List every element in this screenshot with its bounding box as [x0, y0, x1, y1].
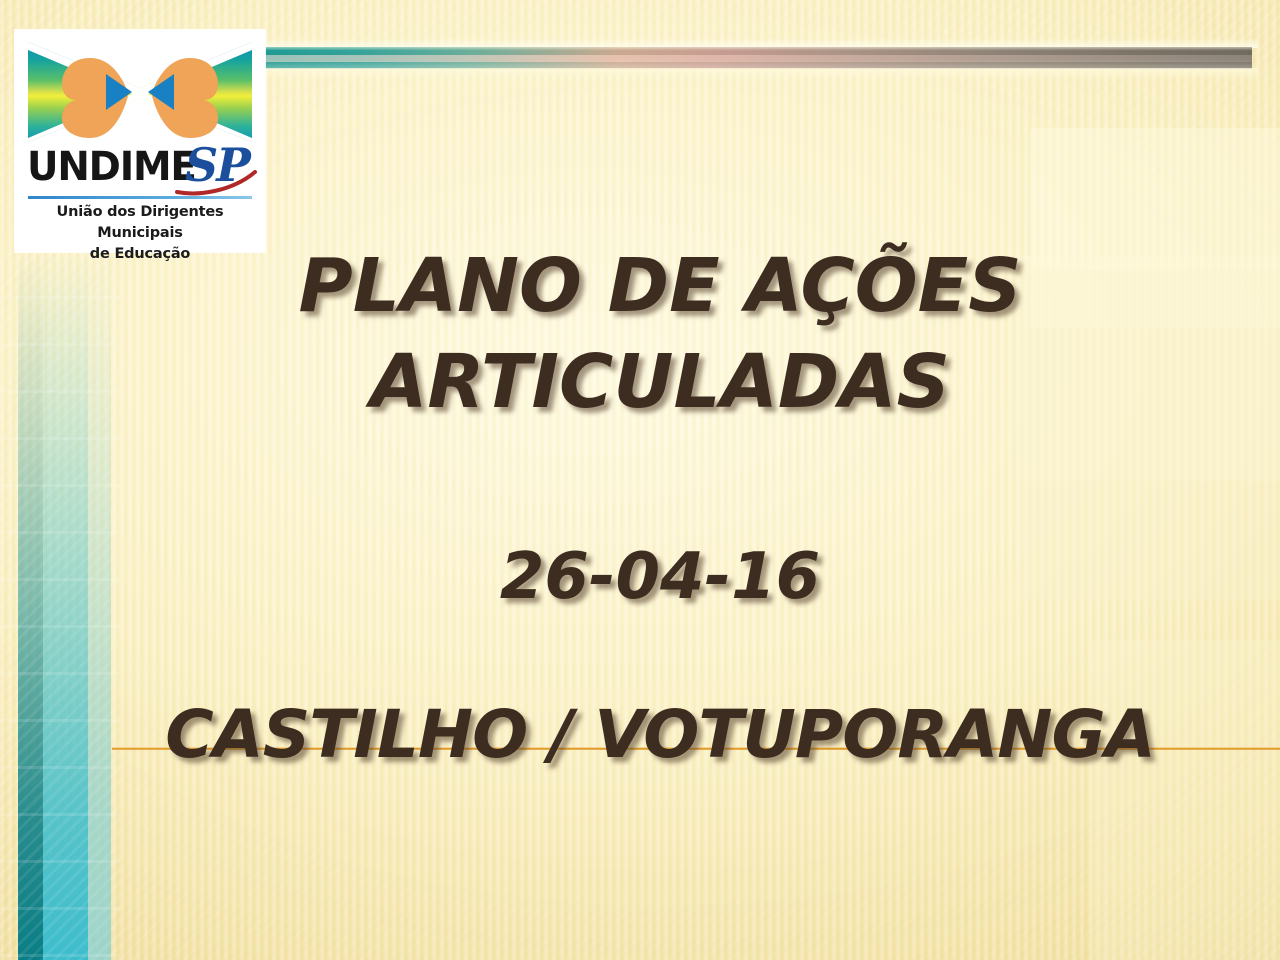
undime-butterfly-emblem [28, 42, 252, 142]
logo-divider-rule [28, 196, 252, 199]
presentation-slide: UNDIME SP União dos Dirigentes Municipai… [0, 0, 1280, 960]
top-decorative-banner [258, 47, 1252, 69]
teal-column-hatch [0, 252, 120, 960]
slide-title-block: PLANO DE AÇÕES ARTICULADAS 26-04-16 CAST… [130, 238, 1190, 774]
logo-tagline-line-1: União dos Dirigentes Municipais [25, 202, 255, 244]
slide-places: CASTILHO / VOTUPORANGA [130, 696, 1190, 774]
logo-swoosh-icon [175, 170, 259, 196]
logo-undime-text: UNDIME [27, 144, 196, 190]
undime-sp-logo: UNDIME SP União dos Dirigentes Municipai… [15, 30, 265, 252]
left-teal-column-decoration [0, 252, 120, 960]
logo-tagline-line-2: de Educação [25, 244, 255, 265]
title-line-2: ARTICULADAS [130, 334, 1190, 430]
slide-date: 26-04-16 [130, 540, 1190, 614]
logo-wordmark: UNDIME SP [27, 142, 253, 198]
butterfly-icon [28, 42, 252, 142]
logo-tagline: União dos Dirigentes Municipais de Educa… [25, 202, 255, 265]
title-line-1: PLANO DE AÇÕES [130, 238, 1190, 334]
banner-highlight-stripe [258, 55, 1252, 62]
banner-bottom-glow [252, 68, 1258, 80]
